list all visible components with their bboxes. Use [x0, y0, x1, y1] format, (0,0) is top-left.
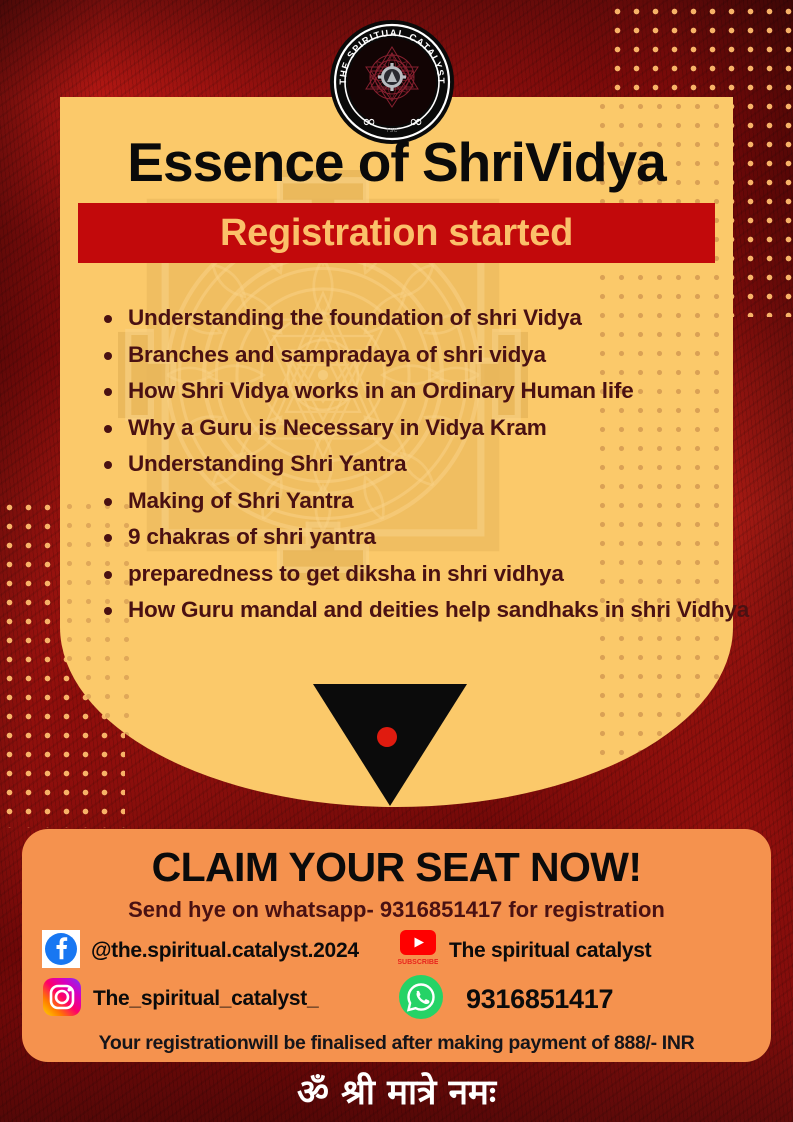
- social-item-youtube[interactable]: SUBSCRIBE The spiritual catalyst: [398, 928, 751, 975]
- list-item: 9 chakras of shri yantra: [100, 524, 750, 551]
- infinity-icon-left: ∞: [362, 112, 376, 132]
- social-row-two: The_spiritual_catalyst_ 9316851417: [42, 975, 751, 1023]
- cta-card: CLAIM YOUR SEAT NOW! Send hye on whatsap…: [22, 829, 771, 1062]
- list-item: preparedness to get diksha in shri vidhy…: [100, 561, 750, 588]
- list-item: How Shri Vidya works in an Ordinary Huma…: [100, 378, 750, 405]
- whatsapp-number: 9316851417: [466, 984, 613, 1015]
- list-item: Understanding Shri Yantra: [100, 451, 750, 478]
- logo-footer-text: TSC: [386, 128, 398, 134]
- mantra-text: ॐ श्री मात्रे नमः: [0, 1068, 793, 1115]
- payment-note: Your registrationwill be finalised after…: [22, 1032, 771, 1055]
- registration-banner-label: Registration started: [220, 212, 573, 255]
- cta-headline: CLAIM YOUR SEAT NOW!: [22, 829, 771, 891]
- social-item-facebook[interactable]: @the.spiritual.catalyst.2024: [42, 930, 398, 973]
- brand-logo[interactable]: THE SPIRITUAL CATALYST TSC ∞ ∞: [329, 19, 455, 145]
- instagram-handle: The_spiritual_catalyst_: [93, 987, 318, 1011]
- cta-subline: Send hye on whatsapp- 9316851417 for reg…: [22, 897, 771, 923]
- youtube-handle: The spiritual catalyst: [449, 939, 651, 963]
- poster-root: THE SPIRITUAL CATALYST TSC ∞ ∞ Essence o…: [0, 0, 793, 1122]
- topics-list: Understanding the foundation of shri Vid…: [100, 305, 750, 634]
- social-links: @the.spiritual.catalyst.2024 SUBSCRIBE T…: [42, 927, 751, 1023]
- infinity-icon-right: ∞: [409, 112, 423, 132]
- social-item-whatsapp[interactable]: 9316851417: [398, 974, 751, 1025]
- facebook-handle: @the.spiritual.catalyst.2024: [91, 939, 359, 963]
- list-item: Making of Shri Yantra: [100, 488, 750, 515]
- list-item: Branches and sampradaya of shri vidya: [100, 342, 750, 369]
- list-item: Why a Guru is Necessary in Vidya Kram: [100, 415, 750, 442]
- list-item: Understanding the foundation of shri Vid…: [100, 305, 750, 332]
- instagram-icon: [42, 977, 82, 1022]
- social-row-one: @the.spiritual.catalyst.2024 SUBSCRIBE T…: [42, 927, 751, 975]
- whatsapp-icon: [398, 974, 444, 1025]
- social-item-instagram[interactable]: The_spiritual_catalyst_: [42, 977, 398, 1022]
- youtube-icon: SUBSCRIBE: [398, 928, 438, 975]
- facebook-icon: [42, 930, 80, 973]
- list-item: How Guru mandal and deities help sandhak…: [100, 597, 750, 624]
- registration-banner: Registration started: [78, 203, 715, 263]
- bindu-dot-icon: [377, 727, 397, 747]
- youtube-subscribe-label: SUBSCRIBE: [398, 959, 438, 966]
